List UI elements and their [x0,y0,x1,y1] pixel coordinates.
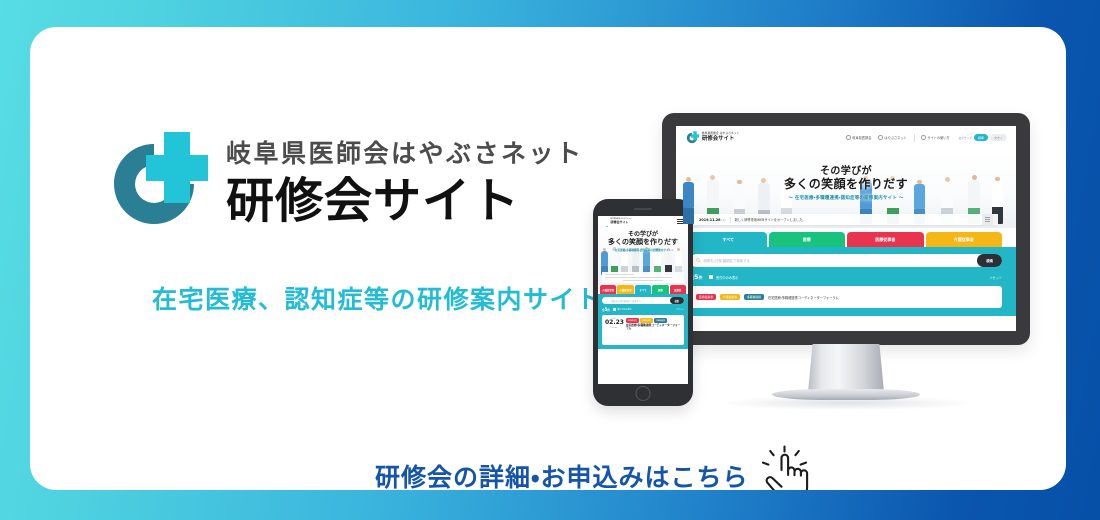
news-divider [730,217,731,223]
result-card-title: 在宅医療・多職種連携コーディネーターフォーラム [768,295,839,300]
site-hero: その学びが 多くの笑顔を作りだす 〜 在宅医療・多職種連携・認知症等の研修案内サ… [676,149,1016,228]
phone-speaker [634,208,652,210]
phone-screen: 岐阜県医師会 はやぶさネット 研修会サイト [598,216,688,384]
site-result-card[interactable]: 医療従事者 介護従事者 多職種連携 在宅医療・多職種連携コーディネーターフォーラ… [690,286,1002,308]
brand-tagline: 在宅医療、認知症等の研修案内サイト [152,280,590,316]
nav-bullet-icon [878,135,883,140]
site-search-bar[interactable]: 研修名・日程・講師名で検索する 検索 [690,254,1002,267]
phone-news-block[interactable] [602,272,684,283]
phone-reset-link[interactable]: リセット [676,308,684,311]
phone-home-button[interactable] [636,386,651,401]
site-tab-3[interactable]: 介護従事者 [926,232,1003,247]
site-news-ticker[interactable]: 2019.11.26 (火) 新しく研修専用WEBサイトをオープンしました。 [694,214,998,225]
phone-results-row: 全5件 受付中のみ表示 リセット [602,307,684,312]
monitor-screen: 岐阜県医師会 はやぶさネット 研修会サイト 岐阜県医師会 はやぶ [676,126,1016,331]
site-header: 岐阜県医師会 はやぶさネット 研修会サイト 岐阜県医師会 はやぶ [676,126,1016,149]
nav-bullet-icon [846,135,851,140]
phone-open-only-checkbox[interactable] [613,308,616,311]
phone-news-line [605,274,634,275]
phone-result-card[interactable]: 2021 02.23 Tuesday 医療従事者 介護従事者 多職種連携 在宅医… [602,315,684,345]
text-size-option-large[interactable]: 大きく [990,134,1007,141]
text-size-control[interactable]: 文字サイズ 標準 大きく [959,134,1007,141]
phone-category-tabs: 介護従事者 介護従事者 すべて 医療 医療従 [598,285,688,294]
phone-badge-2: 多職種連携 [654,318,667,323]
phone-tab-4[interactable]: 医療従 [670,285,686,294]
phone-card-body: 医療従事者 介護従事者 多職種連携 在宅医療・多職種連携コーディネーターフォーラ… [626,318,681,342]
phone-open-only-label: 受付中のみ表示 [617,308,632,311]
result-badge-2: 多職種連携 [744,294,764,300]
logo-row: 岐阜県医師会はやぶさネット 研修会サイト [100,122,590,238]
monitor-stand-neck [808,344,884,392]
result-badge-0: 医療従事者 [696,294,716,300]
reset-filters-link[interactable]: リセット [989,275,1002,280]
phone-hero-line-2: 多くの笑顔を作りだす [598,239,688,247]
site-search-button[interactable]: 検索 [977,254,1002,267]
phone-card-title: 在宅医療・多職種連携コーディネーターフォーラム [626,324,681,331]
site-results-row: 全5件 受付中のみ表示 リセット [690,273,1002,281]
site-tab-0[interactable]: すべて [690,232,767,247]
cta-label: 研修会の詳細・お申込みはこちら [375,458,749,490]
phone-magnifier-icon [606,299,609,302]
site-category-tabs: すべて 医療 医療従事者 介護従事者 [676,228,1016,247]
phone-search-bar[interactable]: 研修名・日程・講師名で検索する 検索 [602,297,684,304]
phone-badge-0: 医療従事者 [626,318,639,323]
desktop-monitor-mockup: 岐阜県医師会 はやぶさネット 研修会サイト 岐阜県医師会 はやぶ [662,113,1030,345]
white-content-card: 岐阜県医師会はやぶさネット 研修会サイト 在宅医療、認知症等の研修案内サイト 研… [30,27,1066,490]
website-preview: 岐阜県医師会 はやぶさネット 研修会サイト 岐阜県医師会 はやぶ [676,126,1016,331]
cta-block[interactable]: 研修会の詳細・お申込みはこちら [375,445,811,490]
news-text: 新しく研修専用WEBサイトをオープンしました。 [735,217,806,222]
phone-news-line [623,280,663,281]
hero-line-1: その学びが [676,166,1016,177]
site-logo-small: 岐阜県医師会 はやぶさネット [702,133,739,136]
nav-bullet-icon [921,135,926,140]
site-nav: 岐阜県医師会 はやぶさネット サイトの使い方 [846,134,1007,142]
pointing-hand-click-icon [759,445,811,490]
site-nav-label-0: 岐阜県医師会 [852,135,871,140]
site-tab-1[interactable]: 医療 [769,232,846,247]
banner-stage: 岐阜県医師会はやぶさネット 研修会サイト 在宅医療、認知症等の研修案内サイト 研… [0,0,1100,520]
phone-hero: その学びが 多くの笑顔を作りだす 〜在宅医療・多職種連携・認知症等の研修案内サイ… [598,227,688,285]
phone-search-section: 研修名・日程・講師名で検索する 検索 全5件 受付中のみ表示 リセット 2021… [598,294,688,349]
text-size-label: 文字サイズ [959,136,972,140]
phone-search-placeholder: 研修名・日程・講師名で検索する [611,299,641,303]
site-nav-label-1: はやぶさネット [884,135,906,140]
monitor-shadow [721,396,971,410]
brand-block: 岐阜県医師会はやぶさネット 研修会サイト 在宅医療、認知症等の研修案内サイト [100,122,590,316]
hero-subtitle: 〜 在宅医療・多職種連携・認知症等の研修案内サイト 〜 [676,195,1016,201]
phone-card-dow: Tuesday [605,327,623,329]
site-logo-big: 研修会サイト [702,136,739,142]
phone-logo-big: 研修会サイト [611,221,632,224]
site-tab-2[interactable]: 医療従事者 [847,232,924,247]
result-badge-1: 介護従事者 [720,294,740,300]
news-menu-icon[interactable] [982,214,993,225]
phone-card-day: 02.23 [605,320,623,326]
phone-news-line [605,277,672,278]
phone-site-header: 岐阜県医師会 はやぶさネット 研修会サイト [598,216,688,227]
hero-line-2: 多くの笑顔を作りだす [676,178,1016,191]
site-nav-item-2[interactable]: サイトの使い方 [921,135,949,140]
phone-search-button[interactable]: 検索 [670,297,684,304]
site-nav-item-0[interactable]: 岐阜県医師会 [846,135,871,140]
brand-small-title: 岐阜県医師会はやぶさネット [226,140,584,168]
logo-text: 岐阜県医師会はやぶさネット 研修会サイト [226,122,584,229]
phone-tab-1[interactable]: 介護従事者 [617,285,633,294]
phone-tab-2[interactable]: すべて [635,285,651,294]
news-date: 2019.11.26 [699,218,720,222]
news-dow: (火) [721,218,726,222]
hero-copy: その学びが 多くの笑顔を作りだす 〜 在宅医療・多職種連携・認知症等の研修案内サ… [676,166,1016,201]
site-nav-label-2: サイトの使い方 [927,135,949,140]
phone-logo-text: 岐阜県医師会 はやぶさネット 研修会サイト [611,219,632,224]
phone-hero-subtitle: 〜在宅医療・多職種連携・認知症等の研修案内サイト〜 [598,248,688,252]
phone-badge-1: 介護従事者 [640,318,653,323]
nav-divider [914,134,915,142]
open-only-label: 受付中のみ表示 [716,275,738,280]
mobile-phone-mockup: 岐阜県医師会 はやぶさネット 研修会サイト [593,199,693,406]
site-search-section: 研修名・日程・講師名で検索する 検索 全5件 受付中のみ表示 リセット 医療従事… [676,247,1016,316]
phone-logo-icon [602,218,609,225]
phone-hero-copy: その学びが 多くの笑顔を作りだす 〜在宅医療・多職種連携・認知症等の研修案内サイ… [598,232,688,252]
site-logo-icon [685,131,699,145]
magnifier-icon [696,258,701,263]
phone-card-date: 2021 02.23 Tuesday [605,318,623,342]
site-nav-item-1[interactable]: はやぶさネット [878,135,906,140]
text-size-option-standard[interactable]: 標準 [974,134,988,141]
open-only-checkbox[interactable] [709,275,714,280]
phone-card-badges: 医療従事者 介護従事者 多職種連携 [626,318,681,323]
site-search-placeholder: 研修名・日程・講師名で検索する [704,258,750,263]
phone-results-count: 全5件 [602,307,610,312]
cross-in-ring-logo-icon [100,130,208,238]
phone-tab-0[interactable]: 介護従事者 [600,285,616,294]
brand-big-title: 研修会サイト [226,174,584,229]
phone-tab-3[interactable]: 医療 [652,285,668,294]
site-logo[interactable]: 岐阜県医師会 はやぶさネット 研修会サイト [685,131,739,145]
